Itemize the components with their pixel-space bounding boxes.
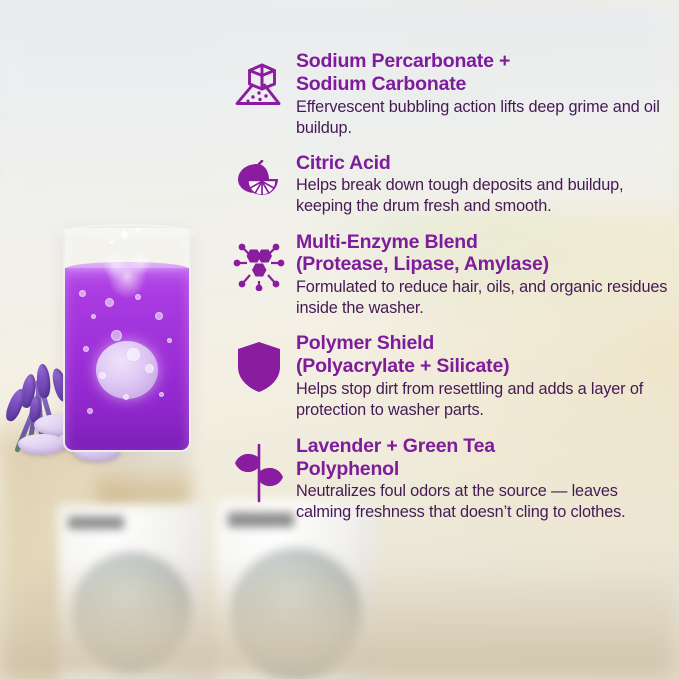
- background-floor: [0, 559, 679, 679]
- ingredient-benefits-infographic: Sodium Percarbonate + Sodium Carbonate E…: [0, 0, 679, 679]
- feature-text-block: Multi-Enzyme Blend (Protease, Lipase, Am…: [296, 231, 668, 320]
- feature-title: Lavender + Green Tea Polyphenol: [296, 435, 668, 481]
- feature-text-block: Lavender + Green Tea Polyphenol Neutrali…: [296, 435, 668, 524]
- feature-title: Polymer Shield (Polyacrylate + Silicate): [296, 332, 668, 378]
- leaf-sprout-icon: [222, 435, 296, 503]
- water-splash: [88, 236, 166, 300]
- feature-title: Multi-Enzyme Blend (Protease, Lipase, Am…: [296, 231, 668, 277]
- feature-text-block: Citric Acid Helps break down tough depos…: [296, 152, 668, 218]
- beaker-rim: [58, 224, 196, 241]
- feature-item-sodium-percarbonate: Sodium Percarbonate + Sodium Carbonate E…: [222, 50, 668, 139]
- feature-item-multi-enzyme-blend: Multi-Enzyme Blend (Protease, Lipase, Am…: [222, 231, 668, 320]
- feature-text-block: Sodium Percarbonate + Sodium Carbonate E…: [296, 50, 668, 139]
- feature-description: Formulated to reduce hair, oils, and org…: [296, 277, 668, 319]
- lemon-slice-icon: [222, 152, 296, 206]
- feature-text-block: Polymer Shield (Polyacrylate + Silicate)…: [296, 332, 668, 421]
- feature-description: Effervescent bubbling action lifts deep …: [296, 97, 668, 139]
- feature-description: Helps stop dirt from resettling and adds…: [296, 379, 668, 421]
- powder-cube-icon: [222, 50, 296, 110]
- feature-description: Helps break down tough deposits and buil…: [296, 175, 668, 217]
- feature-item-lavender-green-tea: Lavender + Green Tea Polyphenol Neutrali…: [222, 435, 668, 524]
- washer-control-panel-left: [68, 516, 124, 529]
- glass-beaker: [63, 228, 191, 452]
- feature-item-polymer-shield: Polymer Shield (Polyacrylate + Silicate)…: [222, 332, 668, 421]
- feature-title: Citric Acid: [296, 152, 668, 175]
- feature-list: Sodium Percarbonate + Sodium Carbonate E…: [222, 50, 668, 529]
- feature-title: Sodium Percarbonate + Sodium Carbonate: [296, 50, 668, 96]
- molecule-icon: [222, 231, 296, 291]
- tablet-stack-bottom: [18, 434, 66, 454]
- product-image: [0, 200, 230, 500]
- feature-item-citric-acid: Citric Acid Helps break down tough depos…: [222, 152, 668, 218]
- feature-description: Neutralizes foul odors at the source — l…: [296, 481, 668, 523]
- shield-icon: [222, 332, 296, 394]
